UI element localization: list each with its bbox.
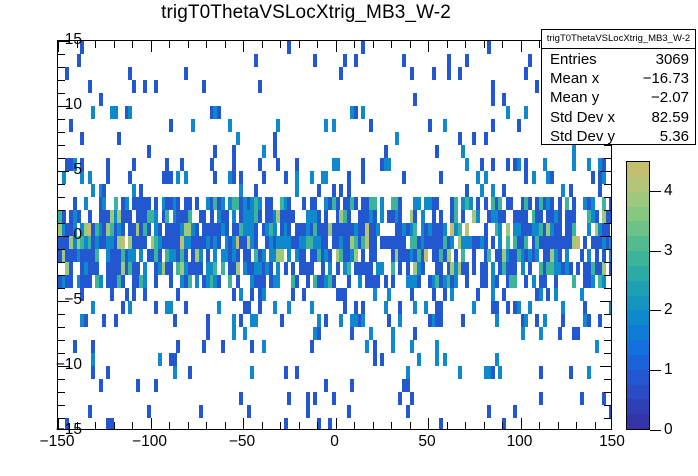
- heatmap-cell: [332, 392, 336, 405]
- heatmap-cell: [361, 314, 365, 327]
- heatmap-cell: [587, 366, 591, 379]
- heatmap-cell: [469, 197, 473, 210]
- x-axis-tick-label: 150: [599, 433, 625, 451]
- heatmap-cell: [406, 405, 410, 418]
- heatmap-cell: [484, 132, 488, 145]
- heatmap-cell: [410, 392, 414, 405]
- x-tick: [373, 422, 374, 429]
- heatmap-cell: [432, 210, 436, 223]
- heatmap-cell: [84, 314, 88, 327]
- y-tick-right: [604, 379, 611, 380]
- heatmap-cell: [317, 184, 321, 197]
- heatmap-cell: [158, 223, 162, 236]
- heatmap-cell: [461, 314, 465, 327]
- heatmap-cell: [347, 210, 351, 223]
- heatmap-cell: [147, 223, 151, 236]
- colorbar-tick: [650, 430, 661, 431]
- heatmap-cell: [232, 288, 236, 301]
- x-axis-tick-label: −100: [132, 433, 167, 451]
- heatmap-cell: [236, 275, 240, 288]
- x-tick: [225, 422, 226, 429]
- heatmap-cell: [88, 405, 92, 418]
- heatmap-cell: [176, 171, 180, 184]
- x-tick-top: [317, 41, 318, 48]
- heatmap-cell: [495, 314, 499, 327]
- heatmap-cell: [602, 249, 606, 262]
- heatmap-cell: [609, 262, 612, 275]
- heatmap-cell: [69, 119, 73, 132]
- y-tick-right: [604, 288, 611, 289]
- heatmap-cell: [358, 275, 362, 288]
- heatmap-cell: [354, 54, 358, 67]
- heatmap-cell: [439, 301, 443, 314]
- heatmap-cell: [480, 158, 484, 171]
- y-tick: [58, 184, 65, 185]
- heatmap-cell: [287, 197, 291, 210]
- heatmap-cell: [347, 405, 351, 418]
- colorbar-segment: [627, 384, 649, 399]
- x-tick: [317, 422, 318, 429]
- heatmap-cell: [461, 145, 465, 158]
- page-title: trigT0ThetaVSLocXtrig_MB3_W-2: [0, 2, 612, 24]
- heatmap-cell: [609, 197, 612, 210]
- y-axis-tick-label: −5: [64, 291, 82, 309]
- stats-row-key: Entries: [550, 50, 597, 69]
- heatmap-cell: [102, 314, 106, 327]
- heatmap-cell: [328, 418, 332, 430]
- heatmap-cell: [295, 158, 299, 171]
- y-tick-right: [604, 223, 611, 224]
- x-tick: [243, 418, 244, 429]
- heatmap-cell: [572, 158, 576, 171]
- heatmap-cell: [465, 275, 469, 288]
- y-tick: [58, 54, 65, 55]
- heatmap-cells: [58, 41, 611, 429]
- heatmap-cell: [402, 236, 406, 249]
- heatmap-cell: [539, 392, 543, 405]
- x-tick: [95, 422, 96, 429]
- heatmap-cell: [524, 106, 528, 119]
- heatmap-cell: [350, 379, 354, 392]
- y-tick-right: [604, 184, 611, 185]
- heatmap-cell: [184, 171, 188, 184]
- heatmap-cell: [114, 197, 118, 210]
- heatmap-cell: [487, 405, 491, 418]
- heatmap-cell: [558, 327, 562, 340]
- heatmap-cell: [528, 197, 532, 210]
- y-tick: [58, 340, 65, 341]
- heatmap-cell: [128, 171, 132, 184]
- heatmap-cell: [258, 197, 262, 210]
- x-tick-top: [151, 41, 152, 52]
- heatmap-cell: [373, 288, 377, 301]
- heatmap-cell: [502, 288, 506, 301]
- heatmap-cell: [232, 158, 236, 171]
- heatmap-cell: [221, 197, 225, 210]
- heatmap-cell: [410, 340, 414, 353]
- colorbar-segment: [627, 162, 649, 177]
- y-tick: [58, 197, 65, 198]
- heatmap-cell: [513, 405, 517, 418]
- stats-row: Mean x−16.73: [550, 69, 689, 88]
- heatmap-cell: [413, 301, 417, 314]
- x-tick-top: [502, 41, 503, 48]
- heatmap-cell: [276, 119, 280, 132]
- heatmap-cell: [539, 288, 543, 301]
- heatmap-cell: [484, 275, 488, 288]
- heatmap-cell: [595, 249, 599, 262]
- stats-box-rows: Entries3069Mean x−16.73Mean y−2.07Std De…: [542, 49, 695, 146]
- heatmap-cell: [88, 171, 92, 184]
- heatmap-cell: [506, 223, 510, 236]
- heatmap-cell: [450, 236, 454, 249]
- y-tick-right: [604, 158, 611, 159]
- heatmap-cell: [136, 262, 140, 275]
- colorbar-segment: [627, 191, 649, 206]
- heatmap-cell: [236, 132, 240, 145]
- x-tick-top: [373, 41, 374, 48]
- stats-row-value: −16.73: [643, 69, 689, 88]
- heatmap-cell: [243, 327, 247, 340]
- heatmap-cell: [69, 262, 73, 275]
- heatmap-cell: [476, 171, 480, 184]
- heatmap-cell: [258, 158, 262, 171]
- heatmap-cell: [435, 197, 439, 210]
- heatmap-cell: [406, 366, 410, 379]
- y-tick-right: [604, 314, 611, 315]
- heatmap-cell: [395, 132, 399, 145]
- heatmap-cell: [391, 327, 395, 340]
- heatmap-cell: [435, 340, 439, 353]
- heatmap-cell: [384, 301, 388, 314]
- stats-row-key: Mean y: [550, 88, 599, 107]
- heatmap-cell: [239, 314, 243, 327]
- y-axis-tick-label: −10: [56, 356, 82, 374]
- heatmap-cell: [402, 54, 406, 67]
- heatmap-cell: [576, 327, 580, 340]
- heatmap-cell: [532, 171, 536, 184]
- heatmap-cell: [188, 366, 192, 379]
- heatmap-cell: [317, 210, 321, 223]
- heatmap-cell: [373, 197, 377, 210]
- x-axis-tick-label: −150: [40, 433, 75, 451]
- heatmap-cell: [147, 197, 151, 210]
- heatmap-cell: [328, 262, 332, 275]
- y-tick: [58, 67, 65, 68]
- heatmap-cell: [295, 366, 299, 379]
- heatmap-cell: [391, 262, 395, 275]
- heatmap-cell: [339, 67, 343, 80]
- heatmap-cell: [361, 249, 365, 262]
- heatmap-cell: [169, 262, 173, 275]
- colorbar-segment: [627, 310, 649, 325]
- heatmap-cell: [454, 275, 458, 288]
- heatmap-cell: [484, 262, 488, 275]
- heatmap-cell: [324, 171, 328, 184]
- heatmap-cell: [225, 223, 229, 236]
- heatmap-cell: [561, 314, 565, 327]
- heatmap-cell: [513, 275, 517, 288]
- x-tick-top: [428, 41, 429, 52]
- heatmap-cell: [188, 210, 192, 223]
- heatmap-cell: [258, 80, 262, 93]
- heatmap-cell: [424, 301, 428, 314]
- heatmap-cell: [173, 314, 177, 327]
- heatmap-cell: [195, 197, 199, 210]
- heatmap-cell: [487, 249, 491, 262]
- heatmap-cell: [373, 210, 377, 223]
- heatmap-cell: [195, 275, 199, 288]
- heatmap-cell: [284, 418, 288, 430]
- heatmap-cell: [421, 210, 425, 223]
- colorbar-segment: [627, 354, 649, 369]
- heatmap-cell: [476, 210, 480, 223]
- heatmap-cell: [88, 210, 92, 223]
- colorbar-tick-label: 3: [664, 242, 673, 260]
- heatmap-cell: [398, 210, 402, 223]
- heatmap-cell: [213, 262, 217, 275]
- heatmap-cell: [139, 184, 143, 197]
- heatmap-cell: [310, 301, 314, 314]
- y-tick-right: [600, 301, 611, 302]
- heatmap-cell: [528, 262, 532, 275]
- heatmap-cell: [121, 275, 125, 288]
- colorbar-segment: [627, 340, 649, 355]
- y-tick-right: [600, 171, 611, 172]
- heatmap-cell: [295, 275, 299, 288]
- heatmap-cell: [569, 262, 573, 275]
- x-tick: [447, 422, 448, 429]
- heatmap-cell: [95, 249, 99, 262]
- colorbar-segment: [627, 399, 649, 414]
- heatmap-cell: [380, 262, 384, 275]
- heatmap-cell: [176, 340, 180, 353]
- colorbar-segment: [627, 265, 649, 280]
- heatmap-cell: [417, 275, 421, 288]
- heatmap-cell: [524, 314, 528, 327]
- heatmap-cell: [232, 171, 236, 184]
- heatmap-cell: [191, 119, 195, 132]
- heatmap-cell: [188, 197, 192, 210]
- heatmap-cell: [154, 379, 158, 392]
- heatmap-cell: [347, 275, 351, 288]
- colorbar-tick: [650, 370, 661, 371]
- heatmap-cell: [502, 184, 506, 197]
- heatmap-cell: [532, 275, 536, 288]
- heatmap-cell: [376, 275, 380, 288]
- heatmap-cell: [276, 275, 280, 288]
- heatmap-cell: [110, 288, 114, 301]
- heatmap-cell: [91, 340, 95, 353]
- heatmap-cell: [498, 366, 502, 379]
- heatmap-cell: [387, 288, 391, 301]
- heatmap-cell: [569, 366, 573, 379]
- heatmap-cell: [336, 158, 340, 171]
- stats-row-key: Mean x: [550, 69, 599, 88]
- heatmap-cell: [484, 223, 488, 236]
- x-tick: [336, 418, 337, 429]
- y-tick-right: [604, 197, 611, 198]
- heatmap-cell: [310, 171, 314, 184]
- y-tick: [58, 314, 65, 315]
- heatmap-cell: [88, 80, 92, 93]
- x-tick: [465, 422, 466, 429]
- heatmap-cell: [202, 80, 206, 93]
- x-tick: [576, 422, 577, 429]
- heatmap-cell: [480, 184, 484, 197]
- heatmap-cell: [206, 314, 210, 327]
- heatmap-cell: [262, 340, 266, 353]
- heatmap-cell: [287, 301, 291, 314]
- colorbar-segment: [627, 206, 649, 221]
- heatmap-cell: [284, 366, 288, 379]
- heatmap-cell: [62, 171, 66, 184]
- heatmap-cell: [565, 197, 569, 210]
- heatmap-cell: [280, 249, 284, 262]
- heatmap-cell: [413, 223, 417, 236]
- heatmap-cell: [99, 379, 103, 392]
- heatmap-cell: [77, 210, 81, 223]
- heatmap-cell: [454, 197, 458, 210]
- x-tick-top: [539, 41, 540, 48]
- heatmap-cell: [491, 119, 495, 132]
- heatmap-cell: [435, 353, 439, 366]
- heatmap-cell: [550, 171, 554, 184]
- heatmap-cell: [143, 80, 147, 93]
- heatmap-cell: [406, 379, 410, 392]
- heatmap-cell: [498, 236, 502, 249]
- heatmap-cell: [458, 67, 462, 80]
- heatmap-cell: [169, 301, 173, 314]
- heatmap-cell: [306, 405, 310, 418]
- heatmap-cell: [80, 132, 84, 145]
- heatmap-cell: [143, 275, 147, 288]
- heatmap-cell: [524, 171, 528, 184]
- heatmap-cell: [609, 249, 612, 262]
- heatmap-cell: [513, 262, 517, 275]
- y-axis-tick-label: 5: [73, 161, 82, 179]
- heatmap-cell: [491, 262, 495, 275]
- heatmap-cell: [454, 249, 458, 262]
- heatmap-cell: [447, 67, 451, 80]
- heatmap-cell: [184, 67, 188, 80]
- x-tick-top: [132, 41, 133, 48]
- heatmap-cell: [391, 340, 395, 353]
- heatmap-cell: [443, 353, 447, 366]
- heatmap-cell: [380, 353, 384, 366]
- heatmap-cell: [443, 119, 447, 132]
- heatmap-cell: [154, 80, 158, 93]
- x-tick: [151, 418, 152, 429]
- heatmap-cell: [247, 405, 251, 418]
- heatmap-cell: [580, 249, 584, 262]
- heatmap-cell: [535, 249, 539, 262]
- heatmap-cell: [169, 171, 173, 184]
- heatmap-cell: [287, 249, 291, 262]
- heatmap-cell: [184, 249, 188, 262]
- heatmap-cell: [143, 262, 147, 275]
- heatmap-cell: [454, 210, 458, 223]
- heatmap-cell: [491, 93, 495, 106]
- y-tick: [58, 223, 65, 224]
- colorbar-tick-label: 4: [664, 182, 673, 200]
- heatmap-cell: [99, 93, 103, 106]
- heatmap-cell: [354, 197, 358, 210]
- y-tick: [58, 418, 65, 419]
- stats-row: Std Dev x82.59: [550, 108, 689, 127]
- colorbar-tick: [650, 310, 661, 311]
- heatmap-cell: [606, 223, 610, 236]
- heatmap-cell: [539, 210, 543, 223]
- heatmap-cell: [491, 184, 495, 197]
- heatmap-cell: [206, 249, 210, 262]
- heatmap-cell: [398, 314, 402, 327]
- heatmap-cell: [132, 288, 136, 301]
- colorbar-segment: [627, 236, 649, 251]
- heatmap-cell: [273, 145, 277, 158]
- x-tick: [391, 422, 392, 429]
- x-tick: [595, 422, 596, 429]
- heatmap-cell: [199, 405, 203, 418]
- heatmap-cell: [428, 119, 432, 132]
- heatmap-cell: [369, 327, 373, 340]
- heatmap-cell: [354, 301, 358, 314]
- colorbar-tick-label: 0: [664, 421, 673, 439]
- heatmap-cell: [287, 392, 291, 405]
- y-tick: [58, 262, 65, 263]
- heatmap-cell: [121, 223, 125, 236]
- heatmap-cell: [591, 197, 595, 210]
- heatmap-cell: [472, 262, 476, 275]
- heatmap-cell: [535, 314, 539, 327]
- heatmap-cell: [550, 197, 554, 210]
- heatmap-cell: [232, 145, 236, 158]
- heatmap-cell: [217, 236, 221, 249]
- heatmap-cell: [565, 249, 569, 262]
- heatmap-cell: [472, 249, 476, 262]
- x-tick-top: [354, 41, 355, 48]
- heatmap-cell: [239, 288, 243, 301]
- x-tick-top: [521, 41, 522, 52]
- heatmap-cell: [236, 262, 240, 275]
- heatmap-cell: [125, 288, 129, 301]
- heatmap-cell: [476, 288, 480, 301]
- heatmap-cell: [328, 249, 332, 262]
- heatmap-cell: [132, 158, 136, 171]
- stats-box: trigT0ThetaVSLocXtrig_MB3_W-2 Entries306…: [541, 29, 696, 145]
- heatmap-cell: [484, 171, 488, 184]
- heatmap-cell: [373, 353, 377, 366]
- heatmap-cell: [91, 353, 95, 366]
- heatmap-cell: [217, 275, 221, 288]
- heatmap-cell: [361, 301, 365, 314]
- heatmap-cell: [380, 197, 384, 210]
- y-tick: [58, 405, 65, 406]
- heatmap-cell: [206, 327, 210, 340]
- heatmap-cell: [106, 171, 110, 184]
- heatmap-cell: [176, 197, 180, 210]
- colorbar-segment: [627, 295, 649, 310]
- heatmap-cell: [213, 249, 217, 262]
- heatmap-cell: [73, 197, 77, 210]
- heatmap-cell: [554, 288, 558, 301]
- heatmap-cell: [591, 171, 595, 184]
- heatmap-cell: [432, 288, 436, 301]
- heatmap-cell: [154, 301, 158, 314]
- stats-row: Mean y−2.07: [550, 88, 689, 107]
- heatmap-cell: [343, 288, 347, 301]
- heatmap-cell: [583, 301, 587, 314]
